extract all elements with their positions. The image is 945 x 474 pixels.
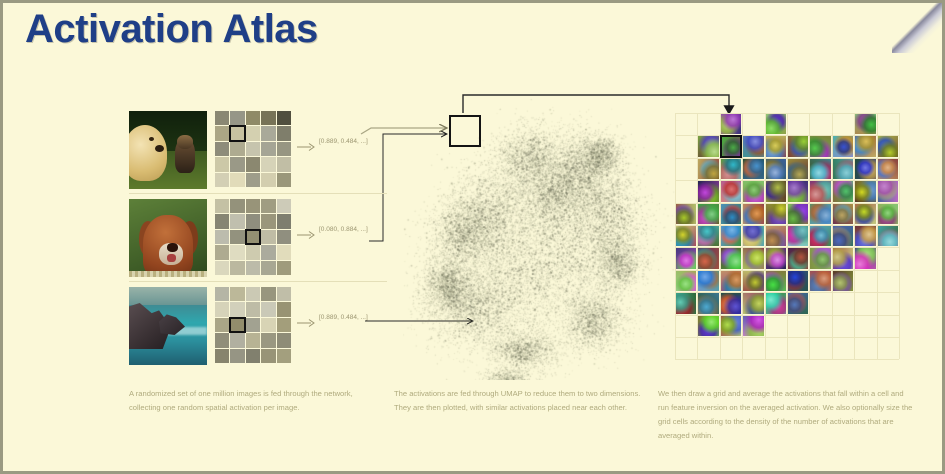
- feature-inversion-tile[interactable]: [721, 114, 741, 134]
- activation-patch-cell: [215, 214, 229, 228]
- feature-inversion-tile[interactable]: [676, 271, 696, 291]
- feature-inversion-tile[interactable]: [788, 136, 808, 156]
- activation-patch-cell: [215, 173, 229, 187]
- feature-inversion-tile[interactable]: [766, 271, 786, 291]
- feature-inversion-tile[interactable]: [855, 181, 875, 201]
- activation-patch-cell: [277, 173, 291, 187]
- activation-patch-cell: [261, 349, 275, 363]
- feature-inversion-tile[interactable]: [721, 271, 741, 291]
- feature-inversion-tile[interactable]: [766, 159, 786, 179]
- activation-patch-cell: [261, 214, 275, 228]
- feature-inversion-tile[interactable]: [878, 136, 898, 156]
- activation-patch-cell: [246, 318, 260, 332]
- activation-patch-cell: [277, 111, 291, 125]
- activation-patch-cell: [277, 302, 291, 316]
- input-row: [0.889, 0.484, ...]: [129, 111, 389, 191]
- feature-inversion-tile[interactable]: [766, 204, 786, 224]
- feature-inversion-tile[interactable]: [833, 181, 853, 201]
- feature-inversion-tile[interactable]: [788, 159, 808, 179]
- feature-inversion-tile[interactable]: [855, 159, 875, 179]
- feature-inversion-tile[interactable]: [766, 136, 786, 156]
- activation-patch-cell: [261, 126, 275, 140]
- feature-inversion-tile[interactable]: [833, 271, 853, 291]
- feature-inversion-tile[interactable]: [721, 159, 741, 179]
- activation-patch-cell: [215, 199, 229, 213]
- activation-patch-cell: [246, 157, 260, 171]
- feature-inversion-tile[interactable]: [743, 293, 763, 313]
- feature-inversion-tile[interactable]: [855, 204, 875, 224]
- activation-patch-cell: [230, 349, 244, 363]
- activation-vector-value: [0.889, 0.484, ...]: [319, 314, 368, 321]
- activation-patch-cell: [230, 111, 244, 125]
- activation-patch-cell: [215, 302, 229, 316]
- activation-patch-cell: [230, 157, 244, 171]
- activation-patch-cell: [261, 333, 275, 347]
- feature-inversion-tile[interactable]: [743, 248, 763, 268]
- feature-inversion-tile[interactable]: [766, 181, 786, 201]
- activation-patch-cell: [215, 287, 229, 301]
- activation-patch-cell: [230, 318, 244, 332]
- feature-inversion-tile[interactable]: [788, 271, 808, 291]
- row-divider: [129, 281, 387, 282]
- feature-inversion-tile[interactable]: [788, 248, 808, 268]
- feature-inversion-tile[interactable]: [788, 226, 808, 246]
- activation-patch-cell: [246, 142, 260, 156]
- activation-patch-cell: [246, 245, 260, 259]
- activation-patch-cell: [277, 126, 291, 140]
- activation-patch-cell: [230, 302, 244, 316]
- activation-patch-grid: [215, 111, 291, 187]
- activation-patch-cell: [246, 349, 260, 363]
- umap-activation-scatter[interactable]: [403, 95, 678, 380]
- feature-inversion-tile[interactable]: [721, 316, 741, 336]
- feature-inversion-tile[interactable]: [878, 159, 898, 179]
- activation-patch-cell: [230, 245, 244, 259]
- activation-patch-cell: [261, 142, 275, 156]
- activation-patch-cell: [246, 199, 260, 213]
- activation-patch-cell: [261, 302, 275, 316]
- activation-patch-cell: [261, 157, 275, 171]
- activation-patch-cell: [277, 142, 291, 156]
- activation-patch-cell: [261, 111, 275, 125]
- row-divider: [129, 193, 387, 194]
- activation-patch-cell: [277, 261, 291, 275]
- feature-inversion-tile[interactable]: [833, 204, 853, 224]
- feature-inversion-tile[interactable]: [788, 293, 808, 313]
- feature-inversion-tile[interactable]: [810, 271, 830, 291]
- activation-patch-grid: [215, 199, 291, 275]
- grid-line: [675, 337, 899, 338]
- activation-patch-cell: [215, 230, 229, 244]
- activation-patch-cell: [230, 173, 244, 187]
- activation-patch-cell: [246, 230, 260, 244]
- feature-inversion-tile[interactable]: [878, 181, 898, 201]
- activation-patch-cell: [246, 111, 260, 125]
- feature-inversion-tile[interactable]: [810, 204, 830, 224]
- feature-inversion-tile[interactable]: [810, 226, 830, 246]
- activation-patch-grid: [215, 287, 291, 363]
- feature-inversion-tile[interactable]: [743, 271, 763, 291]
- feature-inversion-tile[interactable]: [855, 114, 875, 134]
- step-3-caption: We then draw a grid and average the acti…: [658, 387, 913, 443]
- feature-inversion-tile[interactable]: [855, 226, 875, 246]
- activation-patch-cell: [246, 173, 260, 187]
- feature-inversion-tile[interactable]: [721, 181, 741, 201]
- feature-inversion-tile[interactable]: [855, 136, 875, 156]
- step-1-caption: A randomized set of one million images i…: [129, 387, 379, 415]
- feature-inversion-tile[interactable]: [743, 204, 763, 224]
- feature-inversion-tile[interactable]: [766, 114, 786, 134]
- feature-inversion-tile[interactable]: [698, 248, 718, 268]
- activation-patch-cell: [215, 245, 229, 259]
- activation-patch-cell: [215, 142, 229, 156]
- feature-inversion-tile-selected[interactable]: [721, 136, 741, 156]
- feature-inversion-tile[interactable]: [698, 181, 718, 201]
- feature-inversion-tile[interactable]: [676, 248, 696, 268]
- feature-inversion-tile[interactable]: [698, 226, 718, 246]
- feature-inversion-tile[interactable]: [833, 136, 853, 156]
- activation-patch-cell: [277, 318, 291, 332]
- arrow-right-icon: [297, 317, 317, 329]
- activation-vector-value: [0.080, 0.884, ...]: [319, 226, 368, 233]
- activation-patch-cell: [261, 230, 275, 244]
- feature-inversion-tile[interactable]: [698, 204, 718, 224]
- feature-inversion-tile[interactable]: [743, 226, 763, 246]
- feature-inversion-tile[interactable]: [698, 316, 718, 336]
- activation-patch-cell: [230, 261, 244, 275]
- grid-line: [899, 113, 900, 359]
- activation-patch-cell: [277, 245, 291, 259]
- activation-patch-cell: [261, 199, 275, 213]
- feature-inversion-tile[interactable]: [676, 293, 696, 313]
- feature-inversion-tile[interactable]: [766, 226, 786, 246]
- feature-inversion-tile[interactable]: [676, 226, 696, 246]
- activation-patch-cell: [246, 333, 260, 347]
- feature-inversion-tile[interactable]: [833, 226, 853, 246]
- scatter-highlight-box[interactable]: [449, 115, 481, 147]
- input-row: [0.080, 0.884, ...]: [129, 199, 389, 279]
- activation-vector-value: [0.889, 0.484, ...]: [319, 138, 368, 145]
- activation-patch-cell: [230, 230, 244, 244]
- step-2-caption: The activations are fed through UMAP to …: [394, 387, 644, 415]
- activation-patch-cell: [215, 318, 229, 332]
- activation-patch-cell: [215, 126, 229, 140]
- activation-patch-cell: [215, 261, 229, 275]
- feature-inversion-tile[interactable]: [878, 226, 898, 246]
- activation-patch-cell: [230, 199, 244, 213]
- feature-inversion-tile[interactable]: [743, 159, 763, 179]
- activation-patch-cell: [230, 142, 244, 156]
- feature-inversion-tile[interactable]: [788, 204, 808, 224]
- feature-inversion-tile[interactable]: [676, 204, 696, 224]
- activation-patch-cell: [277, 349, 291, 363]
- activation-patch-cell: [277, 230, 291, 244]
- activation-patch-cell: [215, 333, 229, 347]
- activation-patch-cell: [277, 157, 291, 171]
- feature-inversion-tile[interactable]: [698, 159, 718, 179]
- activation-patch-cell: [277, 214, 291, 228]
- arrow-right-icon: [297, 229, 317, 241]
- activation-patch-cell: [261, 318, 275, 332]
- activation-patch-cell: [246, 302, 260, 316]
- input-row: [0.889, 0.484, ...]: [129, 287, 389, 367]
- activation-patch-cell: [215, 111, 229, 125]
- feature-inversion-tile[interactable]: [788, 181, 808, 201]
- page-curl-icon: [890, 3, 942, 55]
- activation-patch-cell: [261, 287, 275, 301]
- feature-inversion-tile[interactable]: [810, 136, 830, 156]
- feature-inversion-tile[interactable]: [878, 204, 898, 224]
- feature-inversion-tile[interactable]: [833, 159, 853, 179]
- page-title: Activation Atlas: [25, 7, 318, 52]
- coastal-seascape-photo: [129, 287, 207, 365]
- feature-inversion-tile[interactable]: [810, 159, 830, 179]
- feature-inversion-tile[interactable]: [855, 248, 875, 268]
- feature-inversion-tile[interactable]: [766, 248, 786, 268]
- activation-patch-cell: [230, 287, 244, 301]
- feature-inversion-tile[interactable]: [698, 271, 718, 291]
- feature-inversion-tile[interactable]: [810, 181, 830, 201]
- feature-inversion-tile[interactable]: [721, 204, 741, 224]
- activation-patch-cell: [261, 245, 275, 259]
- activation-patch-cell: [277, 199, 291, 213]
- feature-inversion-tile[interactable]: [766, 293, 786, 313]
- activation-patch-cell: [230, 333, 244, 347]
- feature-inversion-tile[interactable]: [833, 248, 853, 268]
- activation-atlas-diagram: Activation Atlas: [0, 0, 945, 474]
- activation-patch-cell: [246, 214, 260, 228]
- feature-inversion-tile[interactable]: [743, 316, 763, 336]
- feature-inversion-tile[interactable]: [743, 181, 763, 201]
- activation-patch-cell: [261, 173, 275, 187]
- feature-inversion-tile[interactable]: [721, 226, 741, 246]
- activation-patch-cell: [261, 261, 275, 275]
- feature-inversion-tile[interactable]: [721, 248, 741, 268]
- activation-patch-cell: [277, 287, 291, 301]
- activation-patch-cell: [246, 261, 260, 275]
- feature-inversion-tile[interactable]: [743, 136, 763, 156]
- activation-patch-cell: [246, 126, 260, 140]
- feature-inversion-grid[interactable]: [675, 113, 900, 358]
- feature-inversion-tile[interactable]: [698, 293, 718, 313]
- activation-patch-cell: [246, 287, 260, 301]
- activation-patch-cell: [215, 157, 229, 171]
- brown-spaniel-photo: [129, 199, 207, 277]
- activation-patch-cell: [215, 349, 229, 363]
- feature-inversion-tile[interactable]: [698, 136, 718, 156]
- feature-inversion-tile[interactable]: [810, 248, 830, 268]
- feature-inversion-tile[interactable]: [721, 293, 741, 313]
- puppy-and-kitten-photo: [129, 111, 207, 189]
- activation-patch-cell: [277, 333, 291, 347]
- activation-patch-cell: [230, 214, 244, 228]
- activation-patch-cell: [230, 126, 244, 140]
- grid-line: [675, 359, 899, 360]
- arrow-right-icon: [297, 141, 317, 153]
